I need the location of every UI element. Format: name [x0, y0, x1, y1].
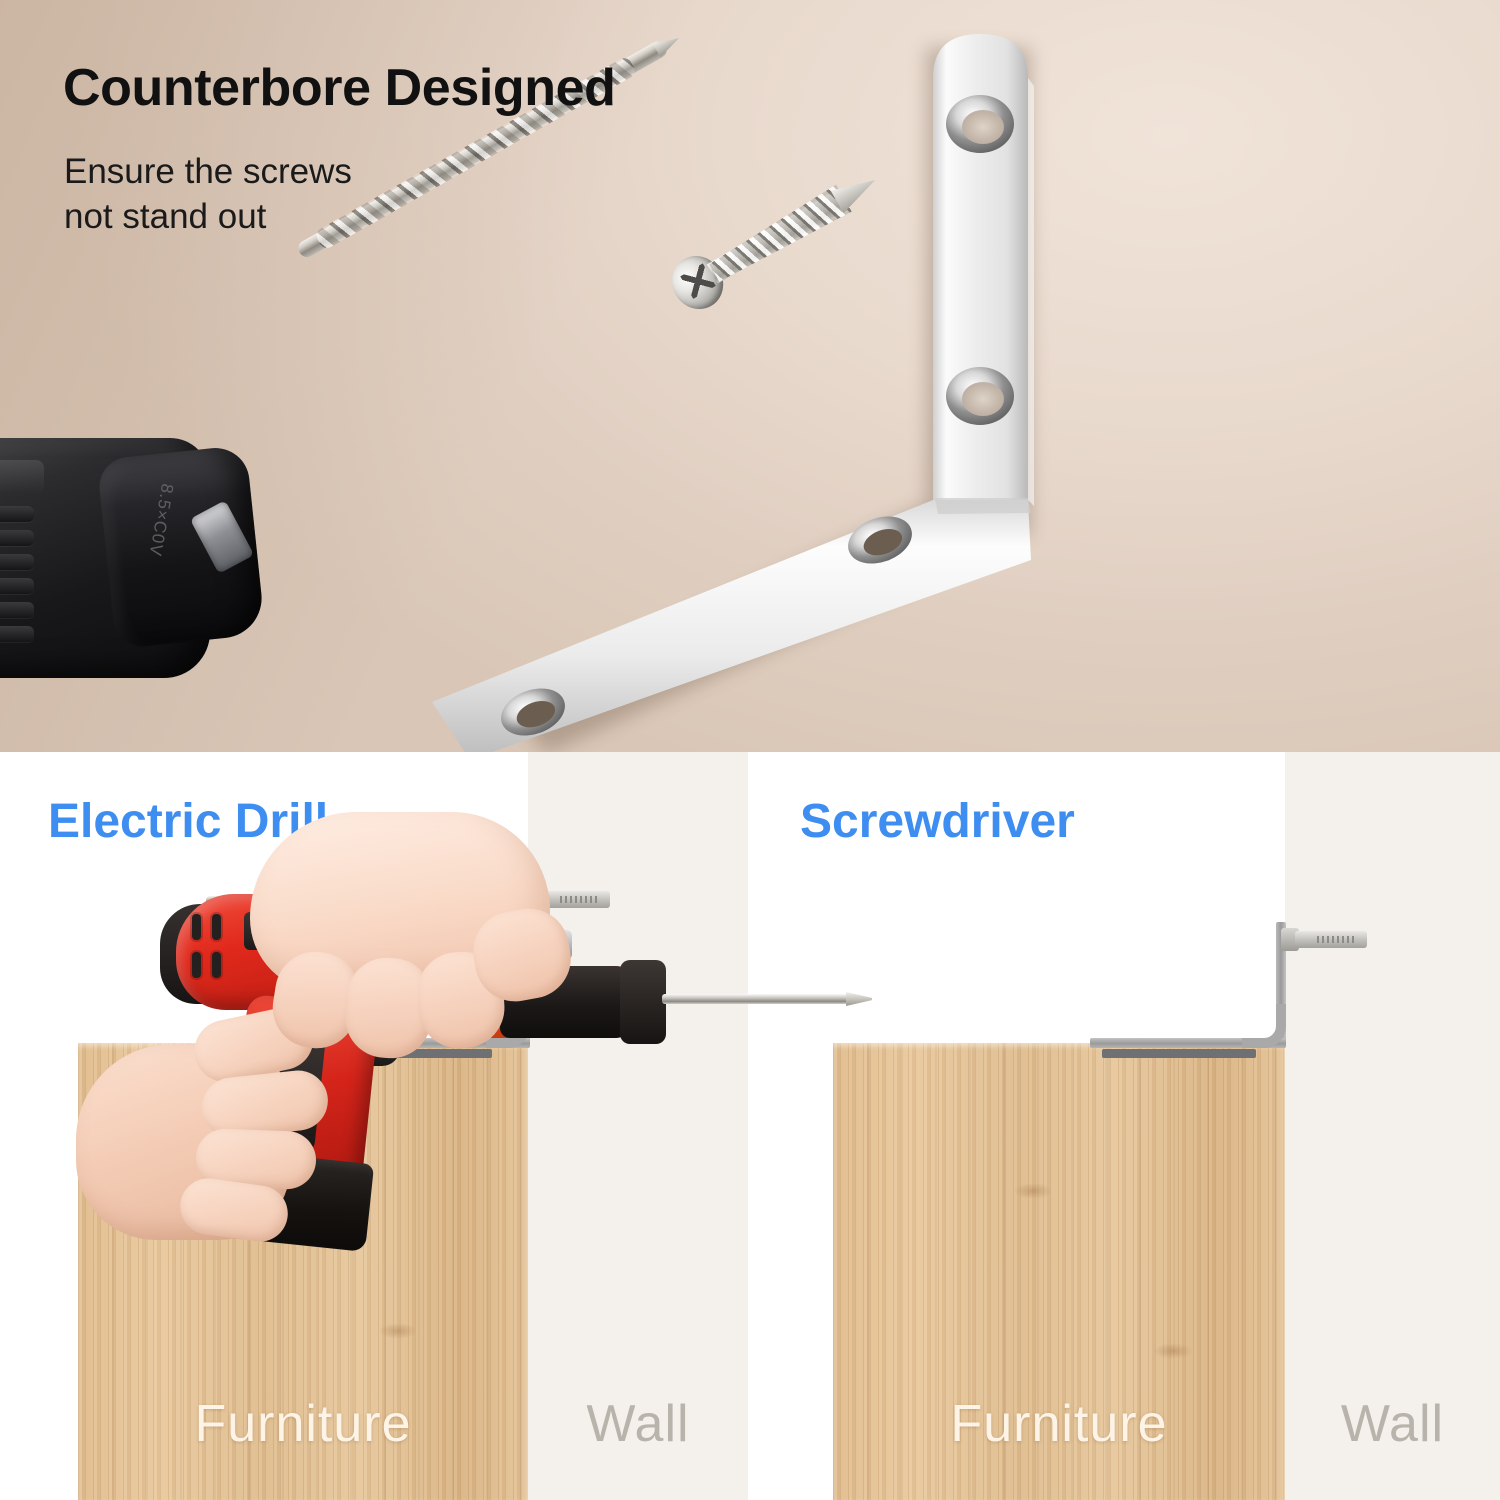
bracket-corner — [1242, 1004, 1286, 1048]
comparison-section: Wall Furniture — [0, 752, 1500, 1500]
subtitle-line-1: Ensure the screws — [64, 150, 352, 195]
hand-holding-screwdriver — [250, 812, 610, 1112]
wall-anchor-right — [1281, 931, 1376, 949]
wall-block-right: Wall — [1285, 752, 1500, 1500]
bracket-pad — [1102, 1049, 1256, 1058]
wood-knot — [1013, 1183, 1053, 1199]
drill-vent — [192, 914, 201, 940]
wall-label-right: Wall — [1285, 1394, 1500, 1454]
electric-drill-tool: 8.5×C0V — [0, 410, 330, 740]
drill-vent — [192, 952, 201, 978]
furniture-block-right: Furniture — [833, 1043, 1285, 1500]
screwdriver-cap — [620, 960, 666, 1044]
drill-grip-ribs — [0, 506, 38, 656]
anchor-plug — [1295, 931, 1367, 948]
wood-knot — [1153, 1343, 1193, 1359]
hero-section: 8.5×C0V Counterbore Designed Ensure the … — [0, 0, 1500, 752]
drill-vent — [212, 914, 221, 940]
furniture-label-left: Furniture — [78, 1394, 528, 1454]
panel-title-screwdriver: Screwdriver — [800, 794, 1075, 849]
drill-vent — [212, 952, 221, 978]
page-subtitle: Ensure the screws not stand out — [64, 150, 352, 240]
bracket-diagram-right — [1090, 922, 1286, 1048]
wall-label-left: Wall — [528, 1394, 748, 1454]
screwdriver-shaft — [662, 994, 852, 1004]
furniture-label-right: Furniture — [833, 1394, 1285, 1454]
page-title: Counterbore Designed — [63, 58, 616, 118]
product-infographic: 8.5×C0V Counterbore Designed Ensure the … — [0, 0, 1500, 1500]
wood-knot — [378, 1323, 418, 1339]
screwdriver-tip — [846, 992, 872, 1006]
subtitle-line-2: not stand out — [64, 195, 352, 240]
